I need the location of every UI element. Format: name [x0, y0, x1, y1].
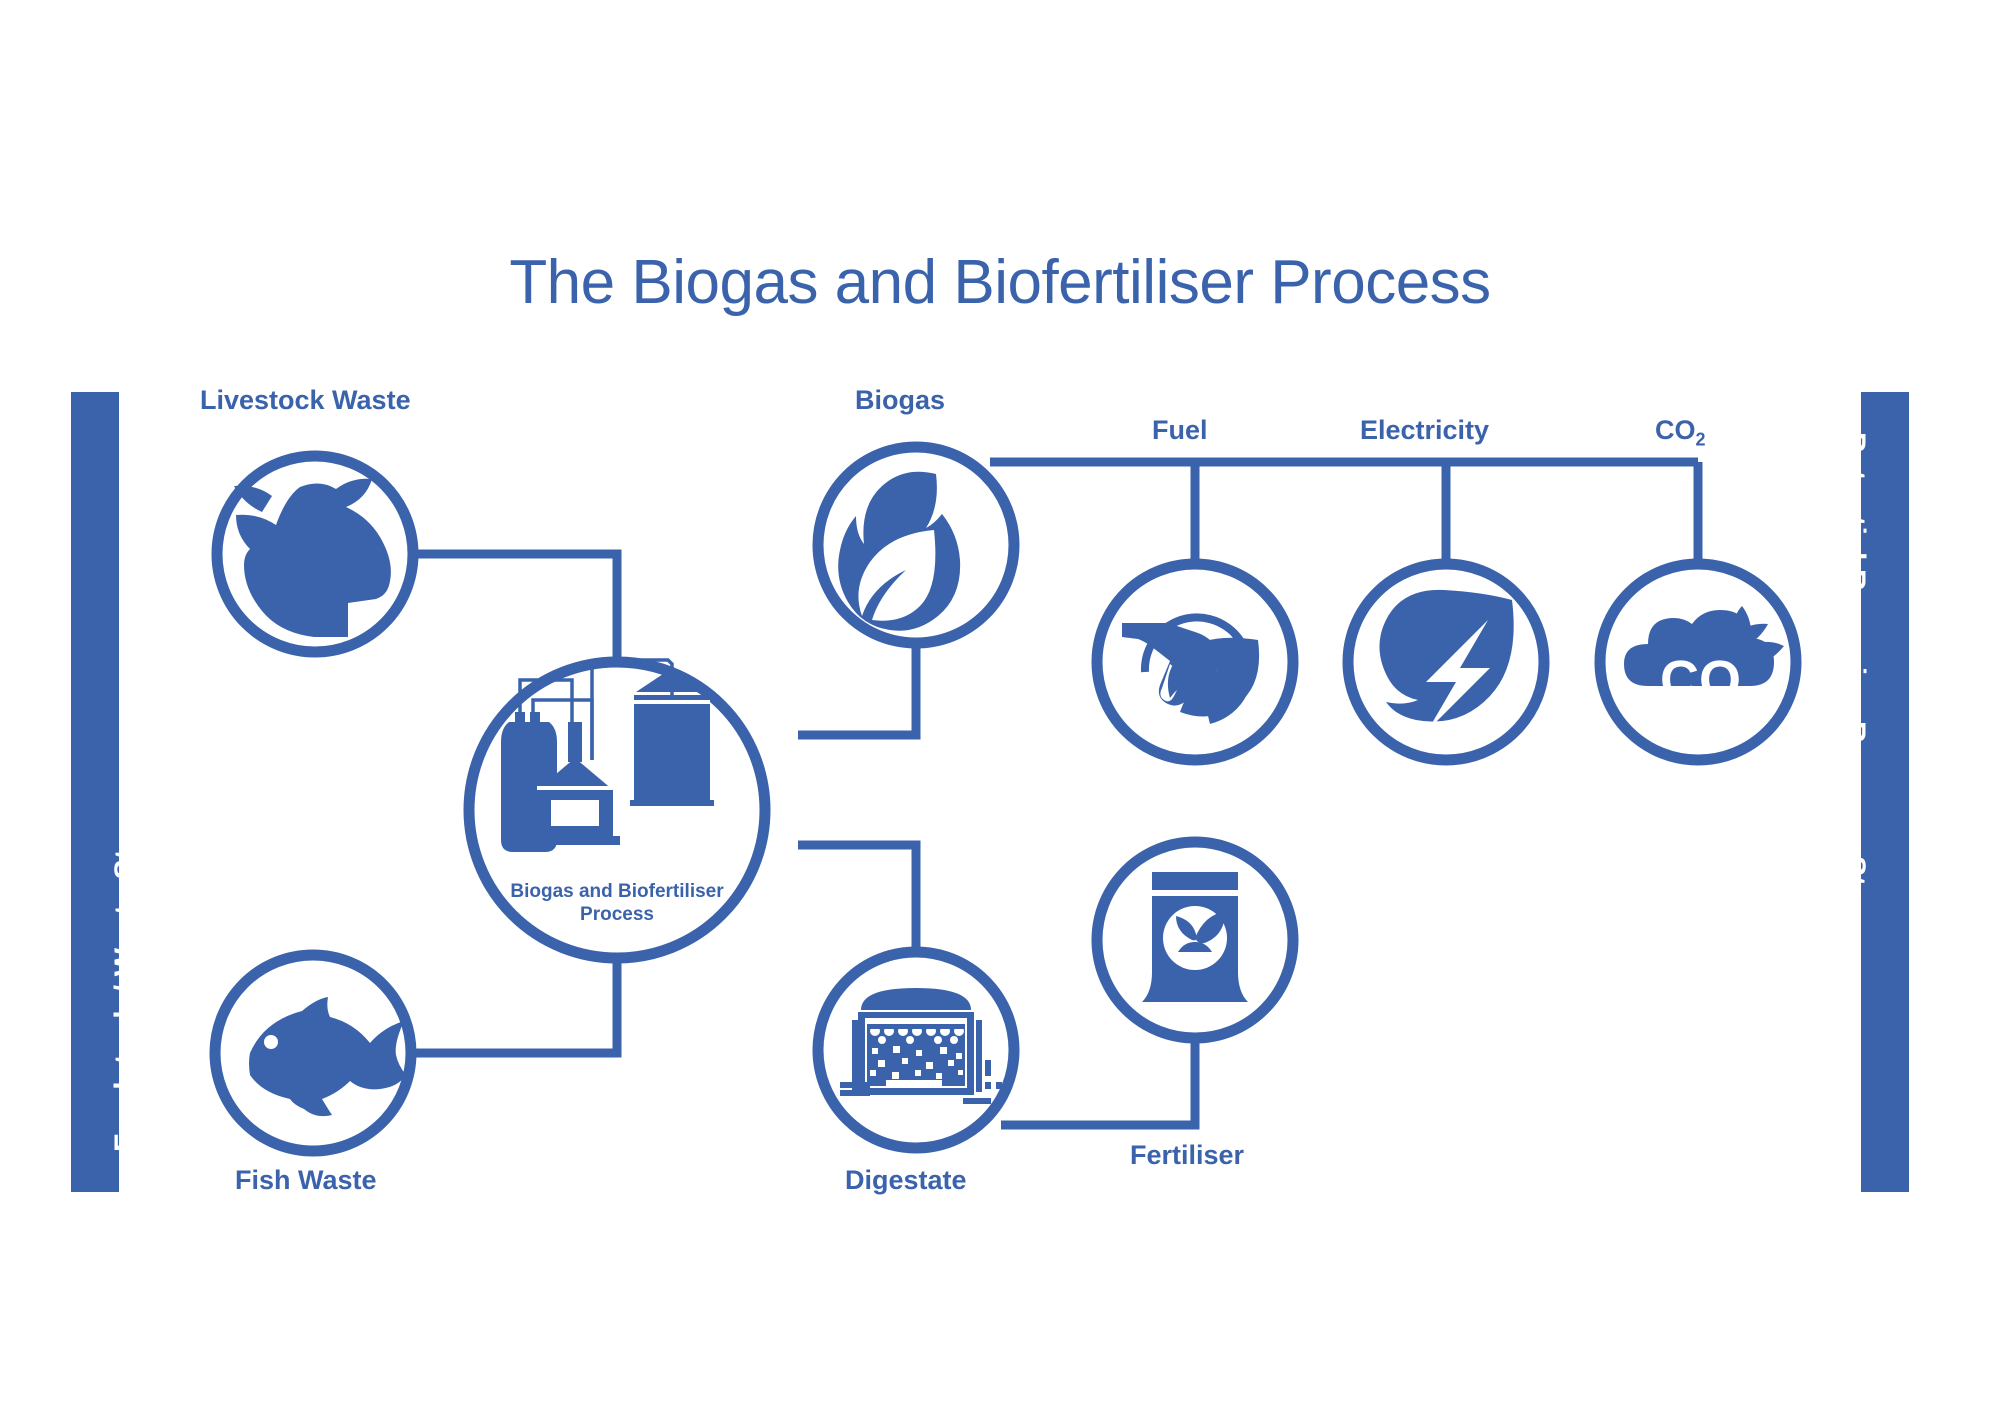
node-label-fertiliser: Fertiliser [1130, 1140, 1244, 1171]
node-biogas[interactable] [818, 447, 1014, 643]
node-label-biogas: Biogas [855, 385, 945, 416]
center-caption-line-1: Biogas and Biofertiliser [467, 880, 767, 903]
node-fuel[interactable] [1097, 564, 1293, 760]
connector-process-to-biogas [798, 643, 916, 735]
process-flow-svg: CO 2 [0, 0, 2000, 1414]
node-digestate[interactable] [818, 952, 1014, 1148]
diagram-canvas: The Biogas and Biofertiliser Process Fee… [0, 0, 2000, 1414]
node-livestock-waste[interactable] [217, 456, 413, 652]
node-co2[interactable]: CO 2 [1600, 564, 1796, 760]
connector-process-to-digestate [798, 845, 916, 952]
node-fertiliser[interactable] [1097, 842, 1293, 1038]
node-label-electricity: Electricity [1360, 415, 1489, 446]
node-label-livestock-waste: Livestock Waste [200, 385, 411, 416]
node-label-fish-waste: Fish Waste [235, 1165, 377, 1196]
node-electricity[interactable] [1348, 564, 1544, 760]
node-label-fuel: Fuel [1152, 415, 1208, 446]
svg-text:CO: CO [1660, 650, 1741, 710]
connector-digestate-to-fertiliser [1001, 1038, 1195, 1125]
node-label-co2-text: CO [1655, 415, 1696, 445]
node-label-co2-subscript: 2 [1696, 429, 1706, 449]
node-label-co2: CO2 [1655, 415, 1706, 450]
node-fish-waste[interactable] [215, 955, 411, 1151]
node-label-digestate: Digestate [845, 1165, 967, 1196]
center-process-caption: Biogas and Biofertiliser Process [467, 880, 767, 926]
center-caption-line-2: Process [467, 903, 767, 926]
svg-text:2: 2 [1736, 684, 1753, 717]
